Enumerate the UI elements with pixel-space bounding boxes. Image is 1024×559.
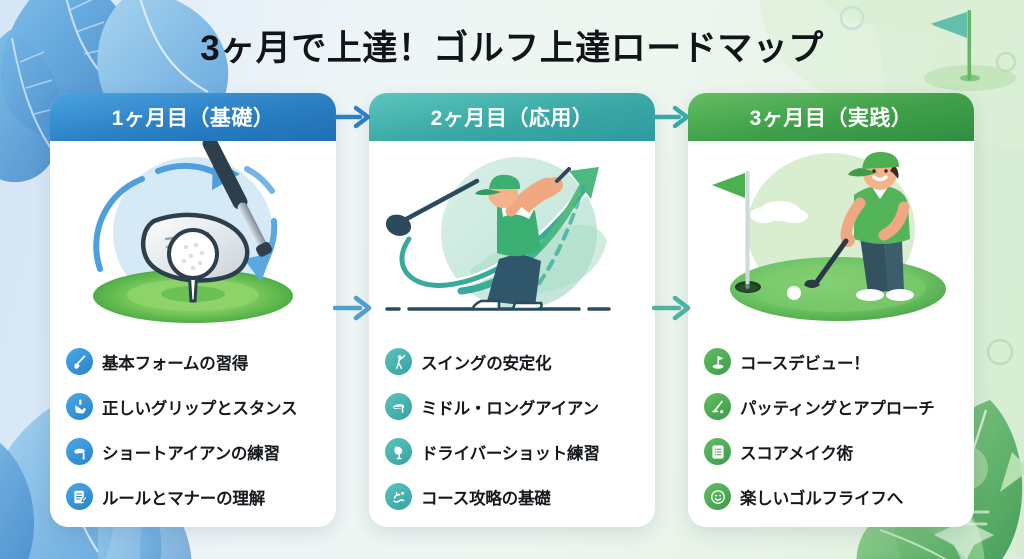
bullet-label: パッティングとアプローチ [740, 395, 935, 419]
golf-club-swing-icon [66, 348, 93, 375]
bullet-item[interactable]: ルールとマナーの理解 [66, 474, 336, 519]
bullet-label: ショートアイアンの練習 [102, 440, 280, 464]
bullet-label: ルールとマナーの理解 [102, 485, 265, 509]
bullet-label: スイングの安定化 [421, 350, 551, 374]
golf-club-and-ball-on-tee-illustration [50, 141, 336, 331]
bullet-item[interactable]: 正しいグリップとスタンス [66, 384, 336, 429]
phase-card-month-1[interactable]: 1ヶ月目（基礎） [50, 93, 336, 527]
bullet-label: ドライバーショット練習 [421, 440, 600, 464]
rulebook-checklist-icon [66, 483, 93, 510]
bullet-item[interactable]: パッティングとアプローチ [704, 384, 974, 429]
bullet-item[interactable]: 基本フォームの習得 [66, 339, 336, 384]
golfer-swing-icon [385, 348, 412, 375]
phase-card-month-3[interactable]: 3ヶ月目（実践） [688, 93, 974, 527]
bullet-label: スコアメイク術 [740, 440, 853, 464]
bullet-item[interactable]: スコアメイク術 [704, 429, 974, 474]
gripping-hand-icon [66, 393, 93, 420]
bullet-item[interactable]: コース攻略の基礎 [385, 474, 655, 519]
phase-cards-container: 1ヶ月目（基礎） [0, 93, 1024, 529]
arrow-header-2-to-3 [653, 100, 691, 134]
bullet-label: 基本フォームの習得 [102, 350, 248, 374]
scorecard-icon [704, 438, 731, 465]
bullet-label: 楽しいゴルフライフへ [740, 485, 903, 509]
smiley-face-icon [704, 483, 731, 510]
bullet-item[interactable]: ミドル・ロングアイアン [385, 384, 655, 429]
bullet-item[interactable]: ショートアイアンの練習 [66, 429, 336, 474]
bullet-label: コース攻略の基礎 [421, 485, 551, 509]
bullet-label: 正しいグリップとスタンス [102, 395, 297, 419]
phase-card-header-month-3: 3ヶ月目（実践） [688, 93, 974, 141]
phase-3-bullet-list: コースデビュー！ パッティングとアプローチ [688, 331, 974, 527]
phase-card-header-month-2: 2ヶ月目（応用） [369, 93, 655, 141]
iron-club-head-icon [66, 438, 93, 465]
golfer-putting-on-green-with-flag-illustration [688, 141, 974, 331]
course-map-icon [385, 483, 412, 510]
phase-card-header-month-1: 1ヶ月目（基礎） [50, 93, 336, 141]
infographic-root: 3ヶ月で上達！ゴルフ上達ロードマップ 1ヶ月目（基礎） [0, 0, 1024, 559]
arrow-body-2-to-3 [652, 290, 692, 326]
phase-card-month-2[interactable]: 2ヶ月目（応用） [369, 93, 655, 527]
page-title: 3ヶ月で上達！ゴルフ上達ロードマップ [0, 20, 1024, 71]
arrow-header-1-to-2 [334, 100, 372, 134]
bullet-item[interactable]: コースデビュー！ [704, 339, 974, 384]
bullet-label: ミドル・ロングアイアン [421, 395, 599, 419]
flag-on-green-icon [704, 348, 731, 375]
bullet-item[interactable]: ドライバーショット練習 [385, 429, 655, 474]
golfer-mid-swing-with-rising-trajectory-illustration [369, 141, 655, 331]
iron-club-icon [385, 393, 412, 420]
bullet-item[interactable]: 楽しいゴルフライフへ [704, 474, 974, 519]
arrow-body-1-to-2 [333, 290, 373, 326]
bullet-item[interactable]: スイングの安定化 [385, 339, 655, 384]
driver-club-icon [385, 438, 412, 465]
bullet-label: コースデビュー！ [740, 350, 870, 374]
phase-1-bullet-list: 基本フォームの習得 正しいグリップとスタンス [50, 331, 336, 527]
putter-club-icon [704, 393, 731, 420]
phase-2-bullet-list: スイングの安定化 ミドル・ロングアイアン [369, 331, 655, 527]
